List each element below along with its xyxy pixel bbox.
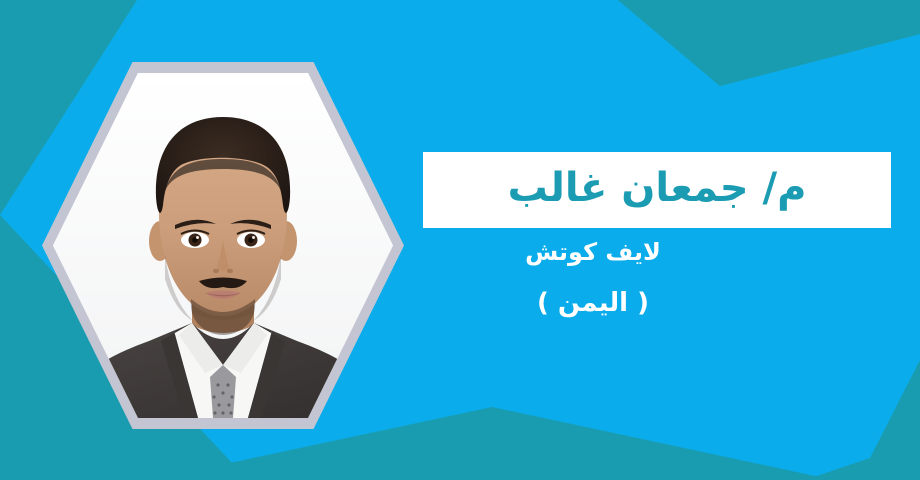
speaker-name: م/ جمعان غالب xyxy=(508,168,807,212)
name-banner: م/ جمعان غالب xyxy=(423,152,891,228)
speaker-role: لايف كوتش xyxy=(423,238,763,266)
speaker-country: ( اليمن ) xyxy=(423,288,763,318)
portrait-frame xyxy=(42,62,404,429)
speaker-card: م/ جمعان غالب لايف كوتش ( اليمن ) xyxy=(0,0,920,480)
